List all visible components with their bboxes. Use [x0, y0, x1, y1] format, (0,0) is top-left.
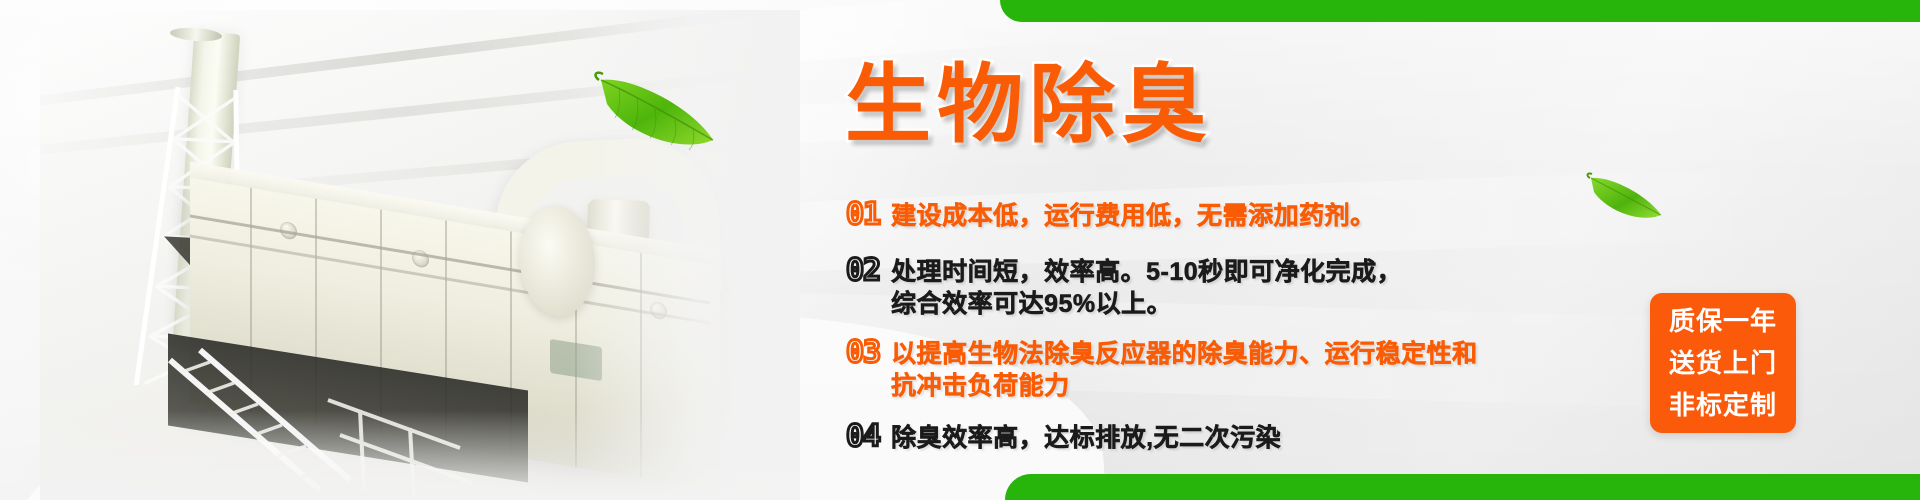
feature-text-02: 处理时间短，效率高。5-10秒即可净化完成， 综合效率可达95%以上。 [891, 256, 1402, 320]
guarantee-badge: 质保一年 送货上门 非标定制 [1650, 293, 1796, 433]
green-bar-top [1000, 0, 1920, 22]
leaf-icon [585, 62, 725, 167]
feature-number-02: 02 [846, 256, 880, 287]
feature-line: 抗冲击负荷能力 [891, 370, 1478, 402]
feature-text-04: 除臭效率高，达标排放,无二次污染 [891, 422, 1281, 454]
feature-item-03: 03 以提高生物法除臭反应器的除臭能力、运行稳定性和 抗冲击负荷能力 [846, 338, 1646, 402]
feature-text-01: 建设成本低，运行费用低，无需添加药剂。 [891, 200, 1376, 232]
photo-edge-fade [40, 410, 800, 500]
feature-line: 处理时间短，效率高。5-10秒即可净化完成， [891, 256, 1402, 288]
feature-item-02: 02 处理时间短，效率高。5-10秒即可净化完成， 综合效率可达95%以上。 [846, 256, 1646, 320]
feature-line: 以提高生物法除臭反应器的除臭能力、运行稳定性和 [891, 338, 1478, 370]
feature-number-03: 03 [846, 338, 880, 369]
badge-line-custom: 非标定制 [1669, 384, 1777, 426]
badge-line-delivery: 送货上门 [1669, 342, 1777, 384]
feature-number-04: 04 [846, 422, 880, 453]
feature-line: 除臭效率高，达标排放,无二次污染 [891, 422, 1281, 454]
feature-line: 综合效率可达95%以上。 [891, 288, 1402, 320]
feature-list: 01 建设成本低，运行费用低，无需添加药剂。 02 处理时间短，效率高。5-10… [846, 200, 1646, 454]
badge-line-warranty: 质保一年 [1669, 300, 1777, 342]
feature-item-04: 04 除臭效率高，达标排放,无二次污染 [846, 422, 1646, 454]
feature-item-01: 01 建设成本低，运行费用低，无需添加药剂。 [846, 200, 1646, 232]
feature-text-03: 以提高生物法除臭反应器的除臭能力、运行稳定性和 抗冲击负荷能力 [891, 338, 1478, 402]
feature-line: 建设成本低，运行费用低，无需添加药剂。 [891, 200, 1376, 232]
promotional-banner: 生物除臭 01 建设成本低，运行费用低，无需添加药剂。 02 处理时间短，效率高… [0, 0, 1920, 500]
green-bar-bottom [1005, 474, 1920, 500]
page-title: 生物除臭 [845, 62, 1213, 148]
feature-number-01: 01 [846, 200, 880, 231]
